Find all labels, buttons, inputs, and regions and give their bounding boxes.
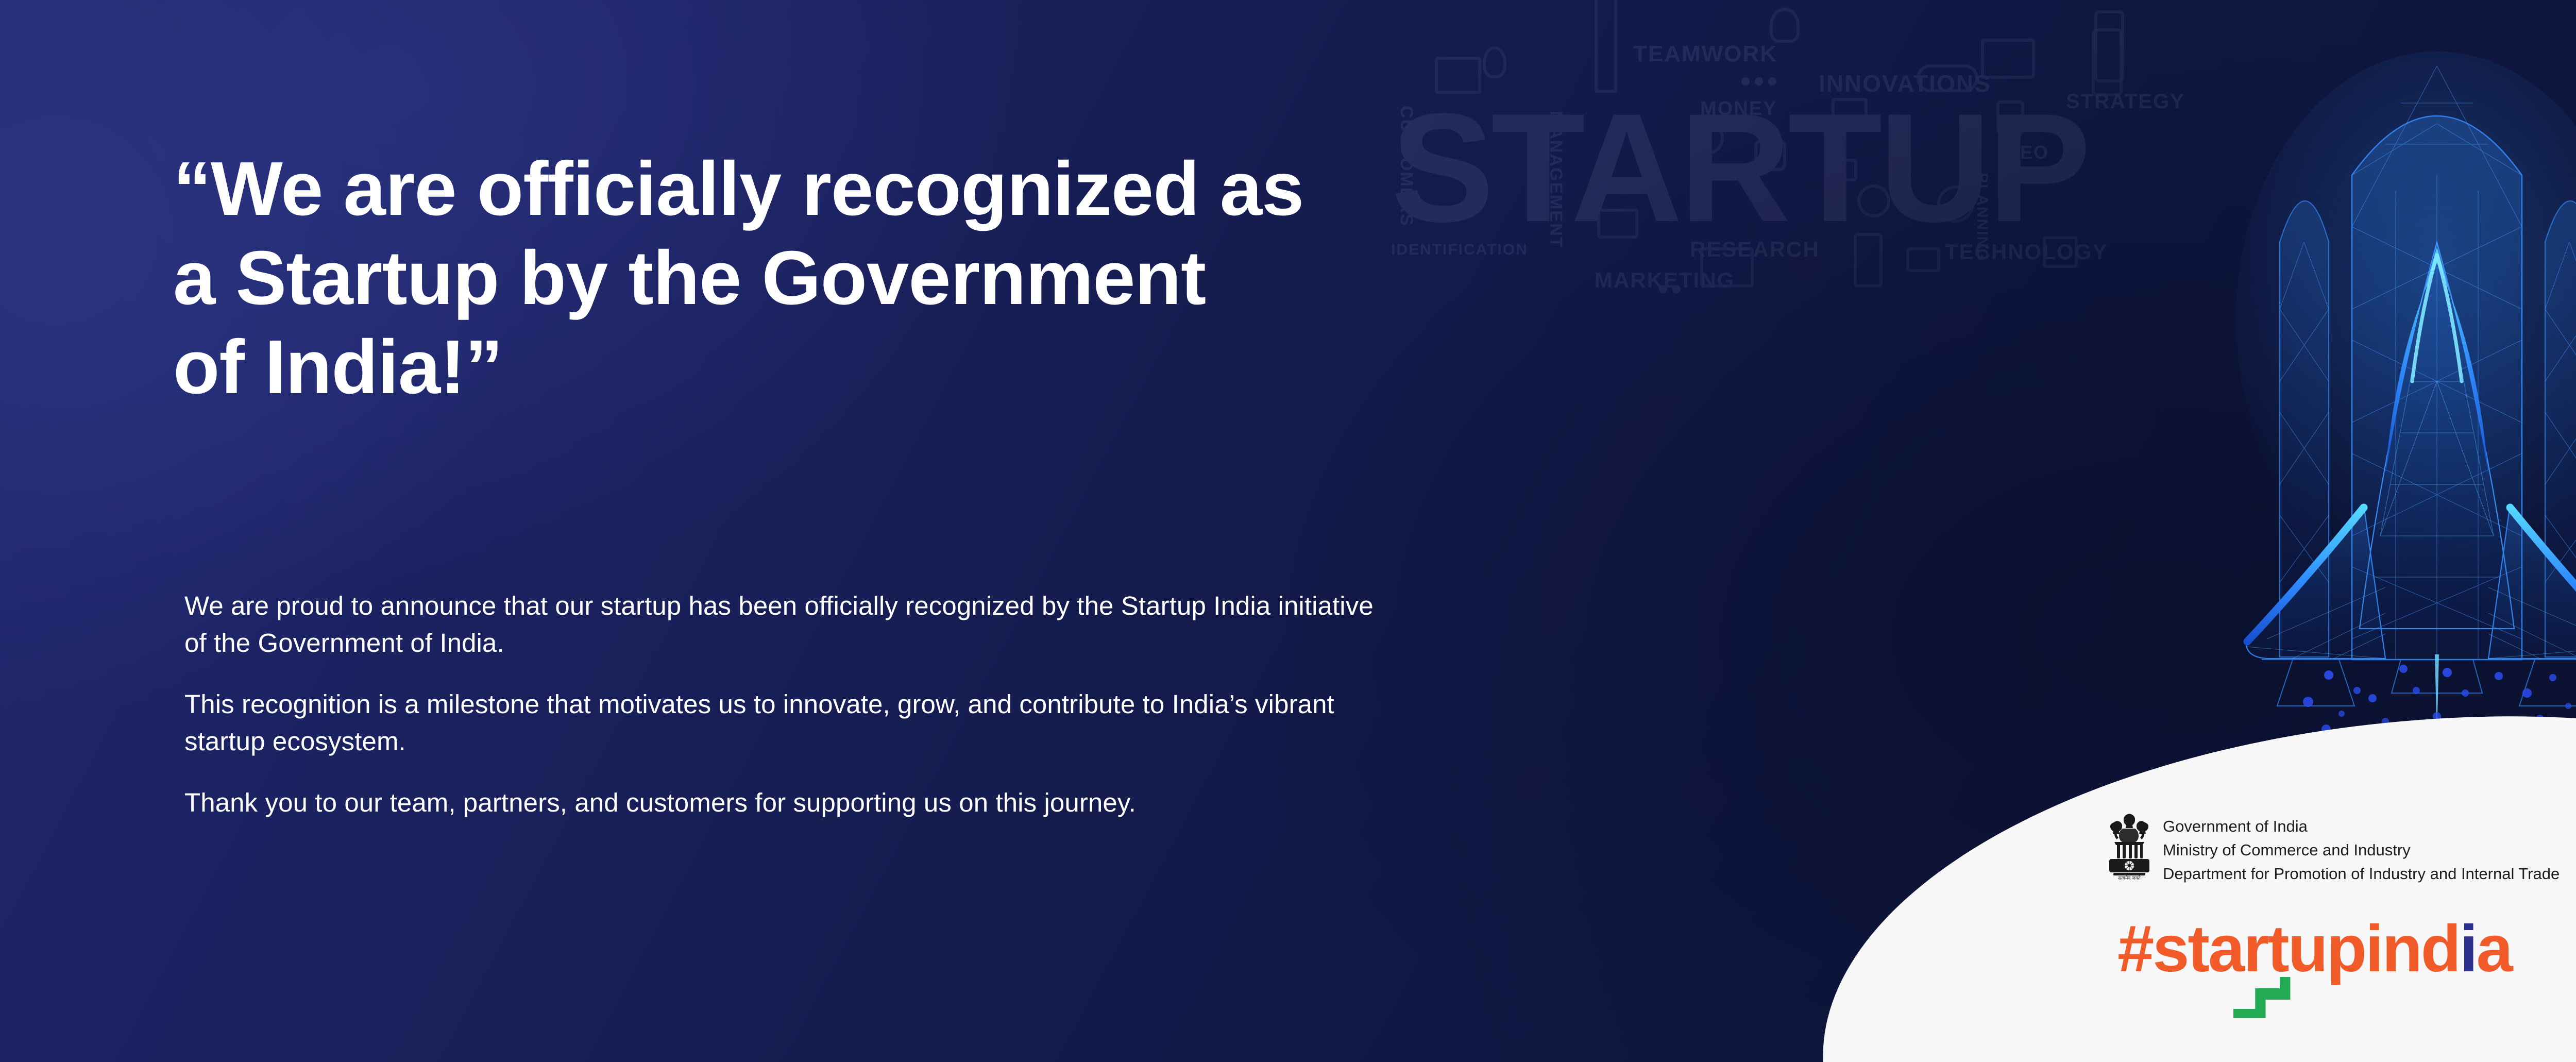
svg-text:सत्यमेव जयते: सत्यमेव जयते (2118, 875, 2141, 880)
paragraph-2: This recognition is a milestone that mot… (184, 686, 1859, 761)
gov-line-country: Government of India (2163, 815, 2560, 838)
government-of-india-block: सत्यमेव जयते Government of India Ministr… (2107, 812, 2560, 886)
startup-india-wordmark: #startupindia (2117, 916, 2512, 982)
gov-line-department: Department for Promotion of Industry and… (2163, 862, 2560, 886)
wordmark-part-orange-1: #startupind (2117, 912, 2460, 986)
government-text-lines: Government of India Ministry of Commerce… (2163, 812, 2560, 886)
page-title: “We are officially recognized as a Start… (173, 144, 1564, 412)
paragraph-1: We are proud to announce that our startu… (184, 587, 1859, 662)
startup-india-recognition-banner: STARTUP TEAMWORK INNOVATIONS STRATEGY MA… (0, 0, 2576, 1062)
ashoka-emblem-icon: सत्यमेव जयते (2107, 812, 2151, 880)
startup-india-logo: #startupindia (2117, 916, 2512, 1009)
paragraph-3: Thank you to our team, partners, and cus… (184, 784, 1859, 821)
body-copy: We are proud to announce that our startu… (184, 587, 1859, 821)
gov-line-ministry: Ministry of Commerce and Industry (2163, 838, 2560, 862)
wordmark-part-orange-2: a (2477, 912, 2512, 986)
green-staircase-icon (2228, 977, 2303, 1018)
wordmark-part-blue: i (2460, 912, 2477, 986)
